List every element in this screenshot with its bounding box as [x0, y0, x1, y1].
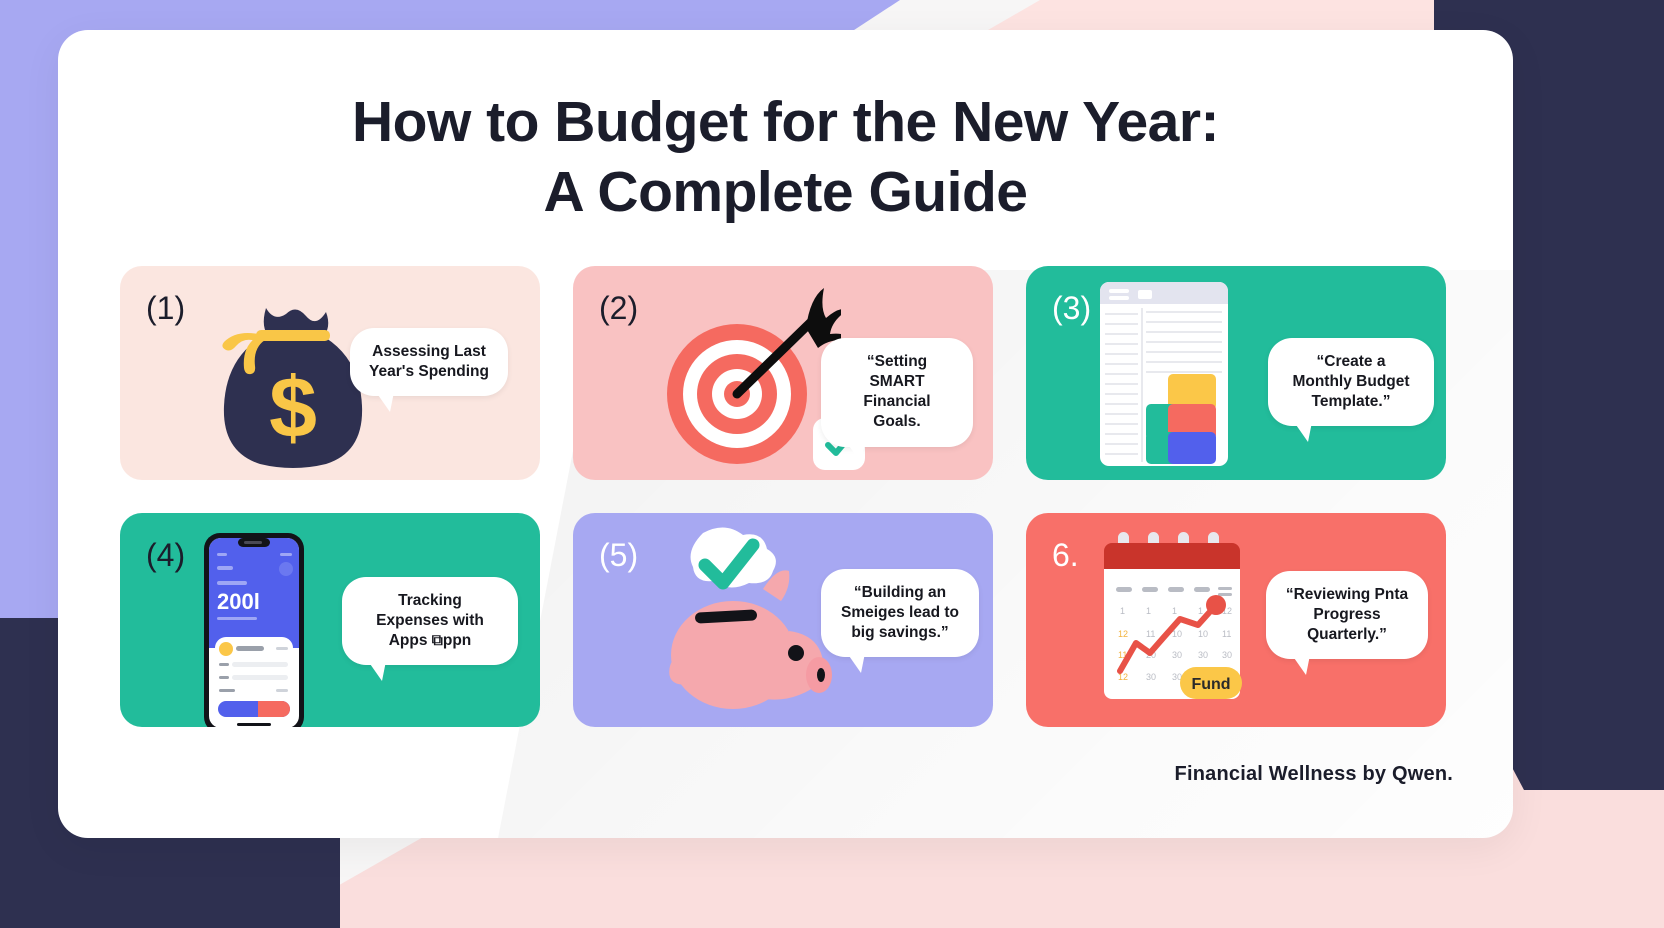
- svg-text:30: 30: [1198, 650, 1208, 660]
- svg-text:1: 1: [1146, 606, 1151, 616]
- step-bubble-5: “Building an Smeiges lead to big savings…: [821, 569, 979, 657]
- svg-text:1: 1: [1120, 606, 1125, 616]
- piggy-bank-icon: [641, 523, 841, 723]
- step-number-4: (4): [146, 539, 185, 571]
- page-title-line-2: A Complete Guide: [58, 158, 1513, 228]
- step-card-1[interactable]: (1) $ Assessing Last Year's Spending: [120, 266, 540, 480]
- svg-text:$: $: [269, 360, 317, 456]
- step-card-5[interactable]: (5) “Building an Smeig: [573, 513, 993, 727]
- step-number-6: 6.: [1052, 539, 1079, 571]
- svg-text:30: 30: [1172, 650, 1182, 660]
- page-title: How to Budget for the New Year: A Comple…: [58, 88, 1513, 227]
- svg-text:30: 30: [1146, 672, 1156, 682]
- step-bubble-3: “Create a Monthly Budget Template.”: [1268, 338, 1434, 426]
- step-bubble-1: Assessing Last Year's Spending: [350, 328, 508, 396]
- step-card-6[interactable]: 6.: [1026, 513, 1446, 727]
- infographic-canvas: How to Budget for the New Year: A Comple…: [0, 0, 1664, 928]
- step-card-4[interactable]: (4) 200l: [120, 513, 540, 727]
- svg-text:1: 1: [1172, 606, 1177, 616]
- svg-text:1: 1: [1198, 606, 1203, 616]
- page-title-line-1: How to Budget for the New Year:: [58, 88, 1513, 158]
- steps-grid: (1) $ Assessing Last Year's Spending (2): [120, 266, 1450, 727]
- svg-text:10: 10: [1198, 629, 1208, 639]
- calendar-chart-icon: 111112 11101011 20303030 303030 121112 F…: [1098, 525, 1246, 725]
- step-bubble-2: “Setting SMART Financial Goals.: [821, 338, 973, 447]
- step-bubble-4: Tracking Expenses with Apps ⧉ppn: [342, 577, 518, 665]
- step-number-2: (2): [599, 292, 638, 324]
- spreadsheet-template-icon: [1100, 282, 1290, 478]
- step-number-3: (3): [1052, 292, 1091, 324]
- step-number-5: (5): [599, 539, 638, 571]
- svg-text:11: 11: [1222, 629, 1231, 639]
- step-number-1: (1): [146, 292, 185, 324]
- svg-text:12: 12: [1118, 629, 1128, 639]
- step-card-3[interactable]: (3): [1026, 266, 1446, 480]
- svg-text:30: 30: [1222, 650, 1232, 660]
- svg-text:200l: 200l: [217, 589, 260, 614]
- svg-text:11: 11: [1146, 629, 1155, 639]
- step-bubble-6: “Reviewing Pnta Progress Quarterly.”: [1266, 571, 1428, 659]
- smartphone-app-icon: 200l: [204, 533, 304, 727]
- step-card-2[interactable]: (2) “Set: [573, 266, 993, 480]
- footer-attribution: Financial Wellness by Qwen.: [1175, 763, 1453, 786]
- fund-badge-label: Fund: [1191, 676, 1230, 693]
- content-panel: How to Budget for the New Year: A Comple…: [58, 30, 1513, 838]
